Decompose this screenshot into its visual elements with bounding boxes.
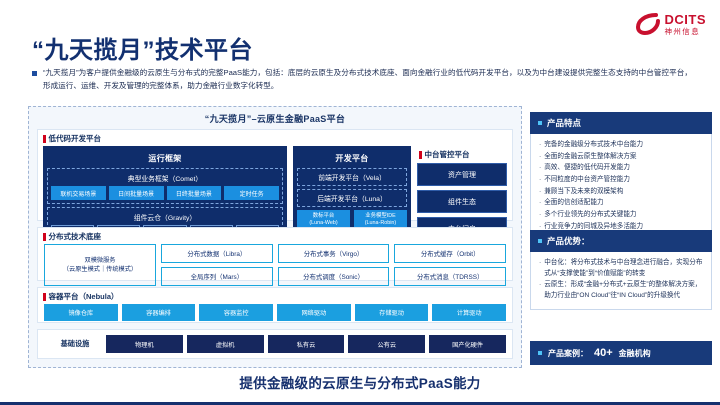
lowcode-label: 低代码开发平台 xyxy=(38,130,287,146)
tool-line1: 数标平台 xyxy=(313,213,335,219)
features-title: 产品特点 xyxy=(530,112,712,134)
container-item[interactable]: 镜像仓库 xyxy=(44,304,118,321)
intro-text: “九天揽月”为客户提供金融级的云原生与分布式的完整PaaS能力，包括：底层的云原… xyxy=(43,66,692,93)
brand-name-cn: 神州信息 xyxy=(665,28,707,36)
brand-logo: DCITS 神州信息 xyxy=(635,12,707,36)
infrastructure-section: 基础设施 物理机 虚拟机 私有云 公有云 国产化硬件 xyxy=(37,329,513,359)
case-label: 产品案例： xyxy=(548,348,588,359)
container-item[interactable]: 网络驱动 xyxy=(277,304,351,321)
bullet-icon xyxy=(32,71,37,76)
comet-chip[interactable]: 日间批量场景 xyxy=(109,186,164,200)
gravity-title: 组件云仓（Gravity） xyxy=(51,211,279,225)
top-row: 低代码开发平台 运行框架 典型业务框架（Comet） 联机交易场景 日间批量场景… xyxy=(37,129,513,221)
base-cell[interactable]: 分布式消息（TDRSS） xyxy=(394,267,506,286)
dual-mode-microservice[interactable]: 双模微服务 （云原生模式｜传统模式） xyxy=(44,244,156,286)
comet-chip[interactable]: 日终批量场景 xyxy=(167,186,222,200)
intro-block: “九天揽月”为客户提供金融级的云原生与分布式的完整PaaS能力，包括：底层的云原… xyxy=(32,66,692,93)
runtime-framework-head: 运行框架 xyxy=(47,150,283,168)
feature-item: 高效、便捷的低代码开发能力 xyxy=(539,163,703,174)
feature-item: 全面的信创适配能力 xyxy=(539,198,703,209)
feature-item: 全面的金融云原生整体解决方案 xyxy=(539,152,703,163)
container-item[interactable]: 容器监控 xyxy=(199,304,273,321)
product-case-badge: 产品案例： 40+ 金融机构 xyxy=(530,341,712,365)
tool-line2: (Luna-Web) xyxy=(309,220,337,226)
slide-root: DCITS 神州信息 “九天揽月”技术平台 “九天揽月”为客户提供金融级的云原生… xyxy=(0,0,720,405)
feature-item: 完备的金融级分布式技术中台能力 xyxy=(539,140,703,151)
console-item-ecosystem[interactable]: 组件生态 xyxy=(417,190,507,213)
product-advantages-panel: 产品优势： 中台化：将分布式技术与中台理念进行融合，实现分布式从“支撑使能”到“… xyxy=(530,230,712,310)
feature-item: 不同粒度的中台资产管控能力 xyxy=(539,175,703,186)
dual-line2: （云原生模式｜传统模式） xyxy=(63,265,137,274)
case-number: 40+ xyxy=(594,347,613,359)
infra-item[interactable]: 虚拟机 xyxy=(187,335,264,353)
infra-item[interactable]: 国产化硬件 xyxy=(429,335,506,353)
comet-chip[interactable]: 联机交易场景 xyxy=(51,186,106,200)
base-cell[interactable]: 分布式调度（Sonic） xyxy=(278,267,390,286)
container-item[interactable]: 存储驱动 xyxy=(355,304,429,321)
page-title: “九天揽月”技术平台 xyxy=(32,30,253,65)
container-label: 容器平台（Nebula） xyxy=(38,288,512,304)
comet-title: 典型业务框架（Comet） xyxy=(51,172,279,186)
container-item[interactable]: 容器编排 xyxy=(122,304,196,321)
advantages-list: 中台化：将分布式技术与中台理念进行融合，实现分布式从“支撑使能”到“价值赋能”的… xyxy=(530,252,712,310)
console-item-asset[interactable]: 资产管理 xyxy=(417,163,507,186)
case-suffix: 金融机构 xyxy=(619,348,651,359)
comet-group: 典型业务框架（Comet） 联机交易场景 日间批量场景 日终批量场景 定时任务 xyxy=(47,168,283,204)
tool-line2: (Luna-Robin) xyxy=(365,220,396,226)
base-column: 分布式缓存（Orbit） 分布式消息（TDRSS） xyxy=(394,244,506,286)
base-cell[interactable]: 分布式缓存（Orbit） xyxy=(394,244,506,263)
product-features-panel: 产品特点 完备的金融级分布式技术中台能力 全面的金融云原生整体解决方案 高效、便… xyxy=(530,112,712,241)
base-cell[interactable]: 分布式数据（Libra） xyxy=(161,244,273,263)
base-cell[interactable]: 全局序列（Mars） xyxy=(161,267,273,286)
diagram-title: “九天揽月”–云原生金融PaaS平台 xyxy=(29,112,521,125)
brand-name-en: DCITS xyxy=(665,13,707,26)
infra-item[interactable]: 物理机 xyxy=(106,335,183,353)
comet-chip[interactable]: 定时任务 xyxy=(224,186,279,200)
tool-line1: 业务模型IDE xyxy=(365,213,396,219)
distributed-base-section: 分布式技术底座 双模微服务 （云原生模式｜传统模式） 分布式数据（Libra） … xyxy=(37,227,513,281)
container-platform-section: 容器平台（Nebula） 镜像仓库 容器编排 容器监控 网络驱动 存储驱动 计算… xyxy=(37,287,513,323)
features-list: 完备的金融级分布式技术中台能力 全面的金融云原生整体解决方案 高效、便捷的低代码… xyxy=(530,134,712,241)
container-item[interactable]: 计算驱动 xyxy=(432,304,506,321)
dev-platform-head: 开发平台 xyxy=(297,150,407,168)
dual-line1: 双模微服务 xyxy=(85,256,116,265)
footer-tagline: 提供金融级的云原生与分布式PaaS能力 xyxy=(0,372,720,392)
feature-item: 多个行业领先的分布式关键能力 xyxy=(539,210,703,221)
front-dev-platform[interactable]: 前端开发平台（Vela） xyxy=(297,168,407,186)
console-label: 中台管控平台 xyxy=(417,146,507,163)
architecture-diagram: “九天揽月”–云原生金融PaaS平台 低代码开发平台 运行框架 典型业务框架（C… xyxy=(28,106,522,368)
back-dev-platform[interactable]: 后端开发平台（Luna） xyxy=(297,189,407,207)
dcits-mark-icon xyxy=(635,12,661,36)
infra-item[interactable]: 公有云 xyxy=(348,335,425,353)
base-column: 分布式事务（Virgo） 分布式调度（Sonic） xyxy=(278,244,390,286)
infra-item[interactable]: 私有云 xyxy=(268,335,345,353)
advantage-item: 中台化：将分布式技术与中台理念进行融合，实现分布式从“支撑使能”到“价值赋能”的… xyxy=(539,258,703,279)
feature-item: 兼顾当下及未来的双模架构 xyxy=(539,187,703,198)
infra-label: 基础设施 xyxy=(44,339,106,349)
base-label: 分布式技术底座 xyxy=(38,228,512,244)
base-column: 分布式数据（Libra） 全局序列（Mars） xyxy=(161,244,273,286)
advantage-item: 云原生：形成“金融+分布式+云原生”的整体解决方案，助力行业由“ON Cloud… xyxy=(539,280,703,301)
base-cell[interactable]: 分布式事务（Virgo） xyxy=(278,244,390,263)
advantages-title: 产品优势： xyxy=(530,230,712,252)
